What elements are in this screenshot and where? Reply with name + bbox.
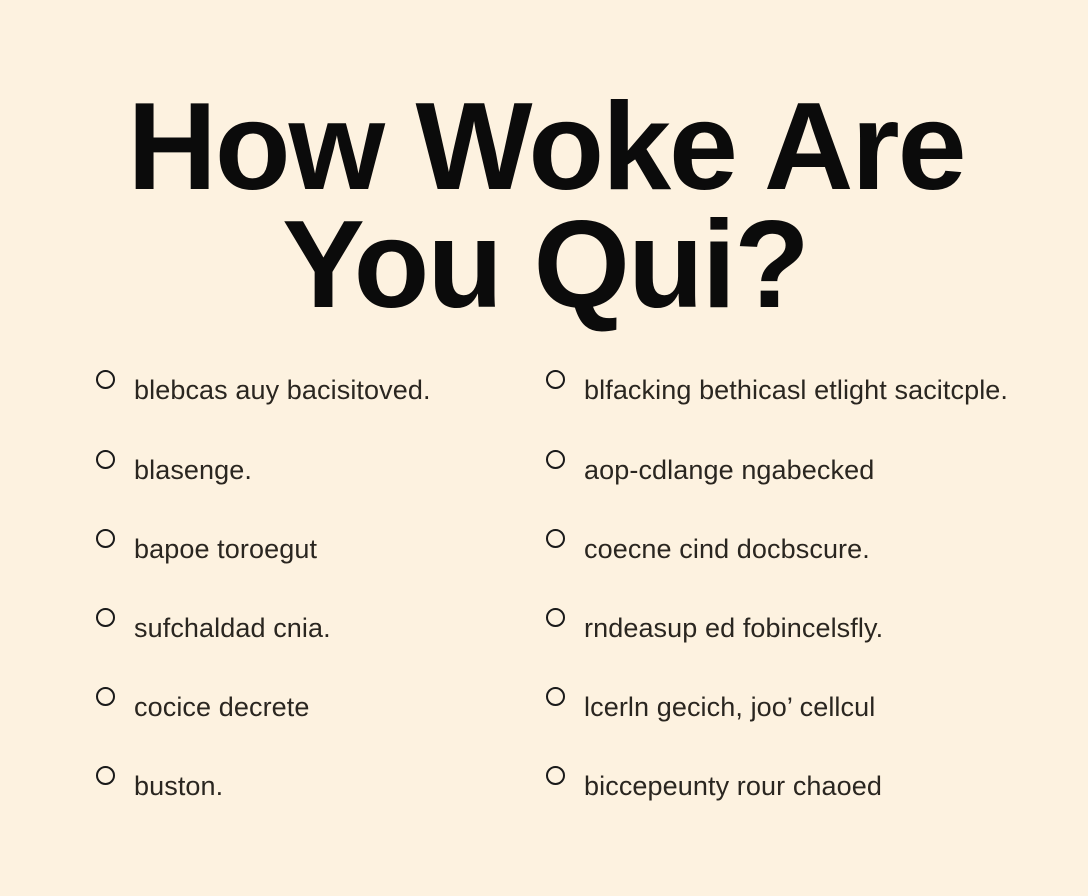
list-item[interactable]: rndeasup ed fobincelsfly. [546, 600, 1046, 656]
list-item-label: rndeasup ed fobincelsfly. [584, 600, 1046, 656]
list-item[interactable]: sufchaldad cnia. [96, 600, 546, 656]
list-item[interactable]: blebcas auy bacisitoved. [96, 362, 546, 418]
circle-outline-bullet-icon[interactable] [546, 450, 565, 469]
list-item-label: bapoe toroegut [134, 521, 546, 577]
list-item[interactable]: lcerln gecich, joo’ cellcul [546, 679, 1046, 735]
list-item-label: coecne cind docbscure. [584, 521, 1046, 577]
list-item[interactable]: aop-cdlange ngabecked [546, 442, 1046, 498]
list-item-label: blebcas auy bacisitoved. [134, 362, 534, 418]
circle-outline-bullet-icon[interactable] [546, 370, 565, 389]
circle-outline-bullet-icon[interactable] [96, 529, 115, 548]
checklist-columns: blebcas auy bacisitoved. blasenge. bapoe… [0, 362, 1088, 837]
poster-canvas: How Woke Are You Qui? blebcas auy bacisi… [0, 0, 1088, 896]
circle-outline-bullet-icon[interactable] [546, 687, 565, 706]
checklist-column-left: blebcas auy bacisitoved. blasenge. bapoe… [96, 362, 546, 837]
page-title-line-2: You Qui? [0, 206, 1088, 324]
list-item-label: blasenge. [134, 442, 546, 498]
list-item[interactable]: buston. [96, 758, 546, 814]
list-item[interactable]: coecne cind docbscure. [546, 521, 1046, 577]
circle-outline-bullet-icon[interactable] [546, 608, 565, 627]
circle-outline-bullet-icon[interactable] [96, 766, 115, 785]
circle-outline-bullet-icon[interactable] [96, 450, 115, 469]
page-title-line-1: How Woke Are [0, 88, 1088, 206]
list-item-label: biccepeunty rour chaoed [584, 758, 1046, 814]
list-item[interactable]: bapoe toroegut [96, 521, 546, 577]
circle-outline-bullet-icon[interactable] [546, 529, 565, 548]
list-item[interactable]: cocice decrete [96, 679, 546, 735]
page-title: How Woke Are You Qui? [0, 88, 1088, 324]
list-item[interactable]: biccepeunty rour chaoed [546, 758, 1046, 814]
list-item[interactable]: blfacking bethicasl etlight sacitcple. [546, 362, 1046, 418]
circle-outline-bullet-icon[interactable] [96, 608, 115, 627]
circle-outline-bullet-icon[interactable] [96, 687, 115, 706]
list-item-label: buston. [134, 758, 546, 814]
list-item-label: blfacking bethicasl etlight sacitcple. [584, 362, 1046, 418]
list-item[interactable]: blasenge. [96, 442, 546, 498]
checklist-column-right: blfacking bethicasl etlight sacitcple. a… [546, 362, 1046, 837]
circle-outline-bullet-icon[interactable] [546, 766, 565, 785]
list-item-label: sufchaldad cnia. [134, 600, 546, 656]
list-item-label: cocice decrete [134, 679, 546, 735]
list-item-label: lcerln gecich, joo’ cellcul [584, 679, 1046, 735]
circle-outline-bullet-icon[interactable] [96, 370, 115, 389]
list-item-label: aop-cdlange ngabecked [584, 442, 1046, 498]
